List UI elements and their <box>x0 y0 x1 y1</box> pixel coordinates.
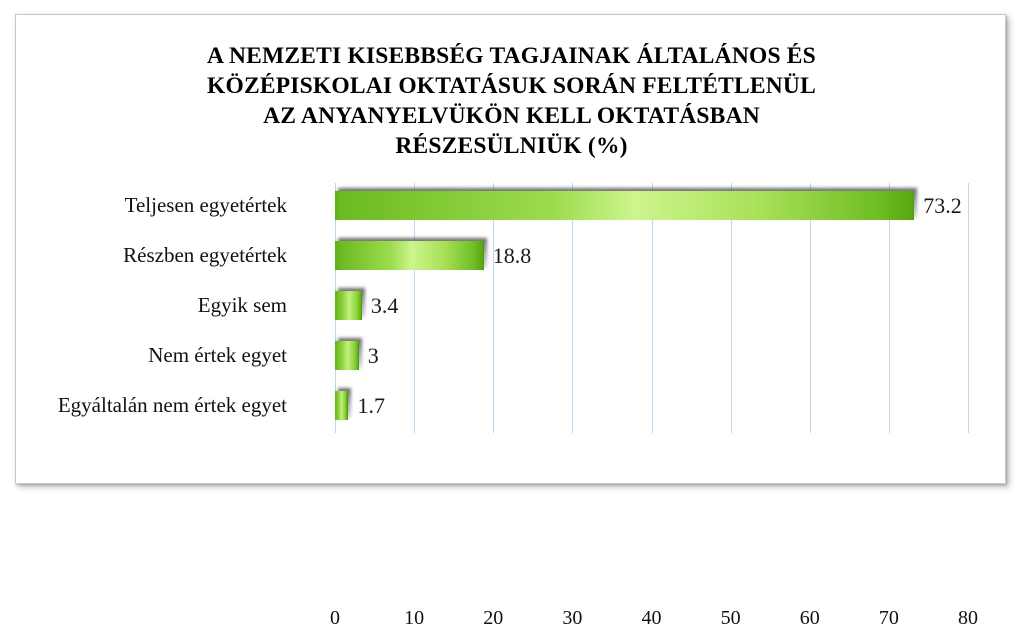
bar-value-label: 73.2 <box>923 191 962 220</box>
bar[interactable] <box>335 391 348 420</box>
category-label: Egyáltalán nem értek egyet <box>0 391 287 420</box>
chart-title-line-4: RÉSZESÜLNIÜK (%) <box>16 131 1007 161</box>
x-tick-label-40: 40 <box>622 607 682 630</box>
chart-frame: A NEMZETI KISEBBSÉG TAGJAINAK ÁLTALÁNOS … <box>15 14 1006 484</box>
category-label: Nem értek egyet <box>0 341 287 370</box>
bar-row: 3 <box>335 333 968 383</box>
category-label: Egyik sem <box>0 291 287 320</box>
plot-area: 73.218.83.431.7 01020304050607080 Teljes… <box>335 183 968 433</box>
x-tick-label-60: 60 <box>780 607 840 630</box>
bar[interactable] <box>335 191 914 220</box>
bar[interactable] <box>335 241 484 270</box>
bar-row: 18.8 <box>335 233 968 283</box>
bar-value-label: 18.8 <box>493 241 532 270</box>
chart-title-line-2: KÖZÉPISKOLAI OKTATÁSUK SORÁN FELTÉTLENÜL <box>16 71 1007 101</box>
bar[interactable] <box>335 341 359 370</box>
x-tick-label-80: 80 <box>938 607 998 630</box>
x-tick-label-20: 20 <box>463 607 523 630</box>
x-tick-label-10: 10 <box>384 607 444 630</box>
bar-value-label: 3 <box>368 341 379 370</box>
chart-title-line-1: A NEMZETI KISEBBSÉG TAGJAINAK ÁLTALÁNOS … <box>16 41 1007 71</box>
x-tick-label-70: 70 <box>859 607 919 630</box>
bar-value-label: 3.4 <box>371 291 399 320</box>
x-tick-label-30: 30 <box>542 607 602 630</box>
bar-row: 3.4 <box>335 283 968 333</box>
category-label: Részben egyetértek <box>0 241 287 270</box>
x-tick-label-0: 0 <box>305 607 365 630</box>
chart-title-line-3: AZ ANYANYELVÜKÖN KELL OKTATÁSBAN <box>16 101 1007 131</box>
x-tick-label-50: 50 <box>701 607 761 630</box>
bar-row: 1.7 <box>335 383 968 433</box>
category-label: Teljesen egyetértek <box>0 191 287 220</box>
bar-value-label: 1.7 <box>357 391 385 420</box>
chart-title: A NEMZETI KISEBBSÉG TAGJAINAK ÁLTALÁNOS … <box>16 41 1007 161</box>
bar-row: 73.2 <box>335 183 968 233</box>
bar[interactable] <box>335 291 362 320</box>
gridline-80 <box>968 183 969 433</box>
